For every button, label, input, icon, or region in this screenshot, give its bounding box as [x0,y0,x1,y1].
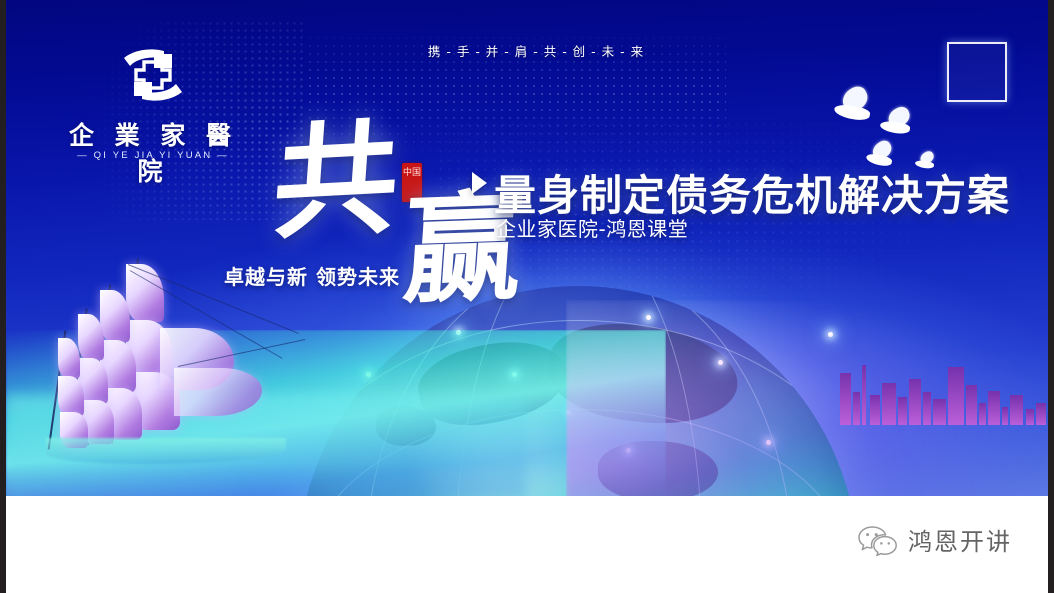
banner-image: 携 - 手 - 并 - 肩 - 共 - 创 - 未 - 来 企 業 家 醫 院 … [6,0,1048,496]
footer-area: 鸿恩开讲 [6,496,1048,593]
slogan-text: 卓越与新 领势未来 [224,261,400,290]
poster-page: 携 - 手 - 并 - 肩 - 共 - 创 - 未 - 来 企 業 家 醫 院 … [0,0,1054,593]
wechat-account-badge[interactable]: 鸿恩开讲 [858,522,1012,557]
subheadline-text: 企业家医院-鸿恩课堂 [496,213,688,242]
wechat-icon [858,524,898,556]
qr-code-placeholder[interactable] [947,42,1007,102]
calligraphy-char-1: 共 [274,126,398,238]
brand-logo: 企 業 家 醫 院 — QI YE JIA YI YUAN — [58,42,248,157]
dove-icon [832,88,878,128]
dove-icon [878,108,918,142]
top-tagline: 携 - 手 - 并 - 肩 - 共 - 创 - 未 - 来 [336,41,736,60]
logo-pinyin: — QI YE JIA YI YUAN — [58,150,248,161]
city-skyline-graphic [836,350,1048,425]
page-gutter-left [0,0,6,593]
page-gutter-right [1048,0,1054,593]
headline-arrow-icon [472,172,487,194]
medical-cross-circle-logo-icon [110,42,196,108]
wechat-account-name: 鸿恩开讲 [908,522,1012,557]
